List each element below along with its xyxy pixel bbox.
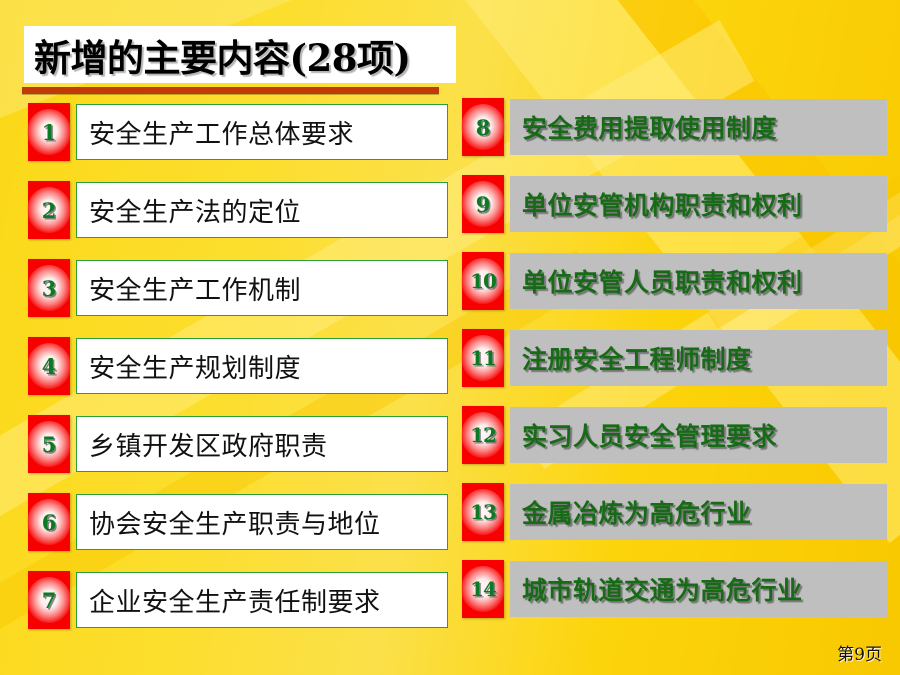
slide-title-box: 新增的主要内容(28项) [24, 26, 456, 83]
item-text-panel[interactable]: 安全生产工作总体要求 [76, 104, 448, 160]
item-label: 单位安管人员职责和权利 [522, 263, 803, 299]
list-item[interactable]: 12实习人员安全管理要求 [462, 407, 887, 463]
title-underline-rule [22, 87, 439, 94]
item-label: 乡镇开发区政府职责 [89, 426, 328, 463]
item-number-label: 10 [470, 271, 496, 291]
list-item[interactable]: 14城市轨道交通为高危行业 [462, 561, 887, 617]
item-number-label: 8 [476, 117, 491, 138]
item-number-label: 3 [42, 278, 57, 299]
item-number-label: 14 [470, 579, 496, 599]
item-label: 安全生产工作总体要求 [89, 114, 354, 151]
item-label: 注册安全工程师制度 [522, 340, 752, 376]
page-title: 新增的主要内容(28项) [34, 28, 411, 82]
item-text-panel[interactable]: 单位安管人员职责和权利 [510, 253, 887, 309]
list-item[interactable]: 11注册安全工程师制度 [462, 330, 887, 386]
item-label: 安全生产规划制度 [89, 348, 301, 385]
item-number-badge: 6 [28, 493, 70, 551]
item-label: 金属冶炼为高危行业 [522, 494, 752, 530]
item-label: 协会安全生产职责与地位 [89, 504, 381, 541]
list-item[interactable]: 10单位安管人员职责和权利 [462, 253, 887, 309]
slide-canvas: 新增的主要内容(28项) 1安全生产工作总体要求2安全生产法的定位3安全生产工作… [0, 0, 900, 675]
item-label: 单位安管机构职责和权利 [522, 186, 803, 222]
item-number-label: 7 [42, 590, 57, 611]
list-item[interactable]: 4安全生产规划制度 [28, 338, 448, 394]
item-label: 安全费用提取使用制度 [522, 109, 777, 145]
list-item[interactable]: 2安全生产法的定位 [28, 182, 448, 238]
list-item[interactable]: 9单位安管机构职责和权利 [462, 176, 887, 232]
item-number-badge: 12 [462, 406, 504, 464]
item-number-badge: 11 [462, 329, 504, 387]
item-text-panel[interactable]: 企业安全生产责任制要求 [76, 572, 448, 628]
list-item[interactable]: 8安全费用提取使用制度 [462, 99, 887, 155]
item-text-panel[interactable]: 金属冶炼为高危行业 [510, 484, 887, 540]
item-number-badge: 1 [28, 103, 70, 161]
item-number-badge: 5 [28, 415, 70, 473]
item-text-panel[interactable]: 注册安全工程师制度 [510, 330, 887, 386]
item-number-label: 9 [476, 194, 491, 215]
list-item[interactable]: 3安全生产工作机制 [28, 260, 448, 316]
item-number-badge: 14 [462, 560, 504, 618]
item-number-label: 4 [42, 356, 57, 377]
list-item[interactable]: 6协会安全生产职责与地位 [28, 494, 448, 550]
item-number-badge: 9 [462, 175, 504, 233]
item-number-badge: 2 [28, 181, 70, 239]
item-text-panel[interactable]: 城市轨道交通为高危行业 [510, 561, 887, 617]
item-number-badge: 4 [28, 337, 70, 395]
item-text-panel[interactable]: 安全生产法的定位 [76, 182, 448, 238]
item-text-panel[interactable]: 安全生产工作机制 [76, 260, 448, 316]
item-number-label: 12 [470, 425, 496, 445]
item-label: 安全生产法的定位 [89, 192, 301, 229]
item-text-panel[interactable]: 安全费用提取使用制度 [510, 99, 887, 155]
item-text-panel[interactable]: 单位安管机构职责和权利 [510, 176, 887, 232]
item-number-badge: 7 [28, 571, 70, 629]
item-number-badge: 10 [462, 252, 504, 310]
item-text-panel[interactable]: 安全生产规划制度 [76, 338, 448, 394]
item-label: 企业安全生产责任制要求 [89, 582, 381, 619]
item-text-panel[interactable]: 乡镇开发区政府职责 [76, 416, 448, 472]
list-item[interactable]: 7企业安全生产责任制要求 [28, 572, 448, 628]
left-item-column: 1安全生产工作总体要求2安全生产法的定位3安全生产工作机制4安全生产规划制度5乡… [28, 104, 448, 650]
page-number-footer: 第9页 [837, 640, 882, 665]
item-number-label: 13 [470, 502, 496, 522]
item-label: 实习人员安全管理要求 [522, 417, 777, 453]
list-item[interactable]: 5乡镇开发区政府职责 [28, 416, 448, 472]
right-item-column: 8安全费用提取使用制度9单位安管机构职责和权利10单位安管人员职责和权利11注册… [462, 99, 887, 638]
item-number-label: 11 [470, 348, 496, 368]
item-text-panel[interactable]: 协会安全生产职责与地位 [76, 494, 448, 550]
list-item[interactable]: 13金属冶炼为高危行业 [462, 484, 887, 540]
item-label: 安全生产工作机制 [89, 270, 301, 307]
item-label: 城市轨道交通为高危行业 [522, 571, 803, 607]
item-number-label: 2 [42, 200, 57, 221]
item-number-label: 1 [42, 122, 57, 143]
item-number-label: 6 [42, 512, 57, 533]
item-number-badge: 13 [462, 483, 504, 541]
item-number-label: 5 [42, 434, 57, 455]
list-item[interactable]: 1安全生产工作总体要求 [28, 104, 448, 160]
item-number-badge: 8 [462, 98, 504, 156]
item-text-panel[interactable]: 实习人员安全管理要求 [510, 407, 887, 463]
item-number-badge: 3 [28, 259, 70, 317]
